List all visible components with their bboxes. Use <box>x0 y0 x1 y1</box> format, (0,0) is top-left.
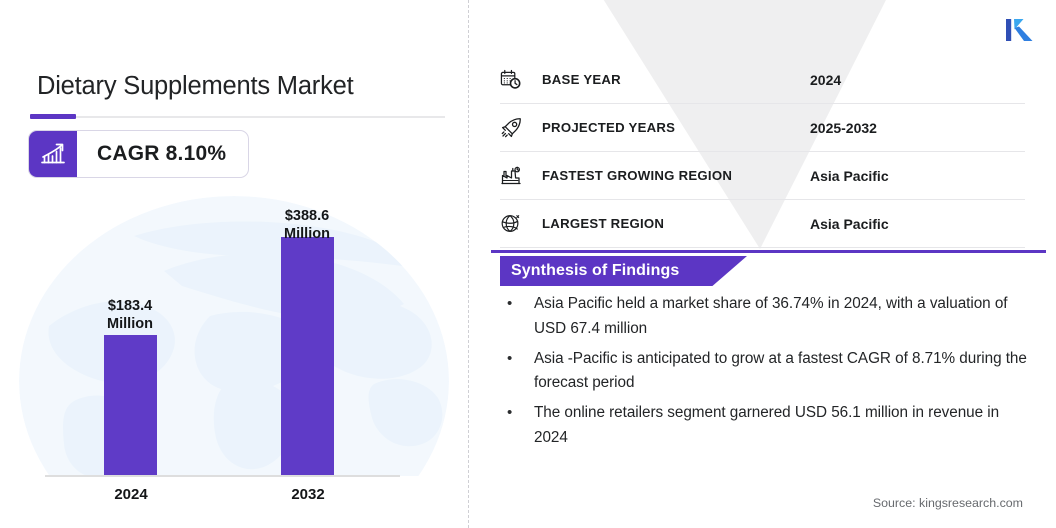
list-item: • The online retailers segment garnered … <box>502 401 1032 451</box>
bar-2024 <box>104 335 157 475</box>
findings-list: • Asia Pacific held a market share of 36… <box>502 292 1032 456</box>
fact-label: PROJECTED YEARS <box>542 120 810 135</box>
bar-label-2024: $183.4 Million <box>70 298 190 333</box>
fact-label: BASE YEAR <box>542 72 810 87</box>
fact-value: Asia Pacific <box>810 168 889 184</box>
rocket-icon <box>500 117 542 139</box>
bullet-icon: • <box>502 401 534 451</box>
source-credit: Source: kingsresearch.com <box>873 496 1023 510</box>
fact-label: FASTEST GROWING REGION <box>542 168 810 183</box>
factory-icon <box>500 165 542 187</box>
title-divider <box>30 116 445 118</box>
table-row: FASTEST GROWING REGION Asia Pacific <box>500 152 1025 200</box>
infographic-page: Dietary Supplements Market CAGR 8.10% <box>0 0 1056 528</box>
fact-label: LARGEST REGION <box>542 216 810 231</box>
fact-value: 2025-2032 <box>810 120 877 136</box>
bar-value-2024-line1: $183.4 <box>70 298 190 316</box>
bar-value-2032-line2: Million <box>247 226 367 244</box>
title-divider-accent <box>30 114 76 119</box>
bar-label-2032: $388.6 Million <box>247 208 367 243</box>
kings-research-k-logo <box>1004 14 1038 46</box>
finding-text: Asia Pacific held a market share of 36.7… <box>534 292 1032 342</box>
globe-icon <box>500 213 542 234</box>
bullet-icon: • <box>502 292 534 342</box>
calendar-clock-icon <box>500 69 542 90</box>
finding-text: Asia -Pacific is anticipated to grow at … <box>534 347 1032 397</box>
category-label-2024: 2024 <box>71 486 191 503</box>
fact-value: Asia Pacific <box>810 216 889 232</box>
synthesis-banner-title: Synthesis of Findings <box>500 262 679 280</box>
table-row: PROJECTED YEARS 2025-2032 <box>500 104 1025 152</box>
bar-2032 <box>281 237 334 475</box>
cagr-badge: CAGR 8.10% <box>28 130 249 178</box>
list-item: • Asia -Pacific is anticipated to grow a… <box>502 347 1032 397</box>
page-title: Dietary Supplements Market <box>37 72 354 101</box>
key-facts-table: BASE YEAR 2024 PROJECTED YEARS <box>500 56 1025 248</box>
table-row: LARGEST REGION Asia Pacific <box>500 200 1025 248</box>
fact-value: 2024 <box>810 72 841 88</box>
bar-value-2024-line2: Million <box>70 316 190 334</box>
bar-value-2032-line1: $388.6 <box>247 208 367 226</box>
category-label-2032: 2032 <box>248 486 368 503</box>
synthesis-banner: Synthesis of Findings <box>500 256 747 286</box>
list-item: • Asia Pacific held a market share of 36… <box>502 292 1032 342</box>
right-panel: BASE YEAR 2024 PROJECTED YEARS <box>469 0 1056 528</box>
bar-chart-growth-icon <box>29 131 77 177</box>
bullet-icon: • <box>502 347 534 397</box>
section-divider <box>491 250 1046 253</box>
finding-text: The online retailers segment garnered US… <box>534 401 1032 451</box>
chart-axis-line <box>45 475 400 477</box>
table-row: BASE YEAR 2024 <box>500 56 1025 104</box>
cagr-label: CAGR 8.10% <box>77 131 248 177</box>
bar-chart: $183.4 Million 2024 $388.6 Million 2032 <box>0 190 468 490</box>
left-panel: Dietary Supplements Market CAGR 8.10% <box>0 0 468 528</box>
